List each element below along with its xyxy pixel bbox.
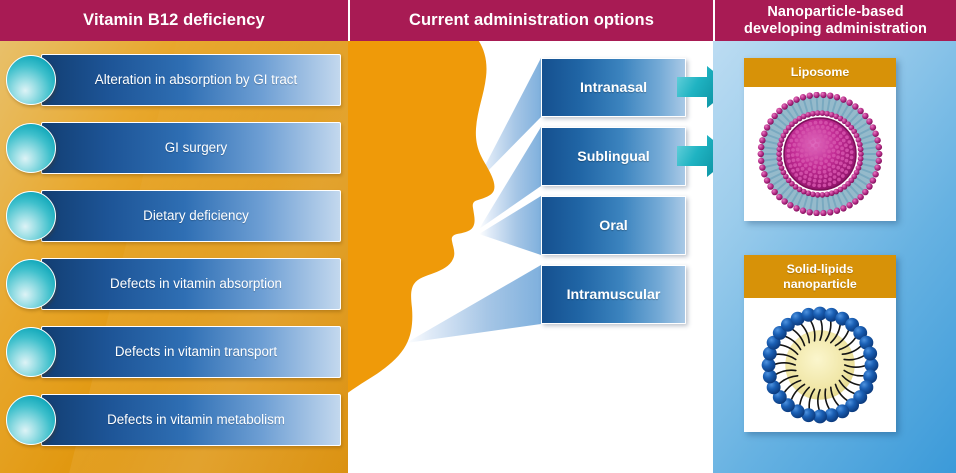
header-title-middle: Current administration options [350, 0, 713, 41]
factor-bar[interactable]: Defects in vitamin metabolism [41, 394, 341, 446]
header-title-right-line2: developing administration [744, 21, 927, 37]
nanoparticle-card-sln[interactable]: Solid-lipids nanoparticle [744, 255, 896, 432]
teal-sphere-icon [6, 55, 56, 105]
route-label: Intranasal [580, 80, 647, 96]
route-box-oral[interactable]: Oral [541, 196, 686, 255]
header-divider-right [713, 0, 715, 41]
route-box-intramuscular[interactable]: Intramuscular [541, 265, 686, 324]
factor-row[interactable]: Defects in vitamin absorption [6, 258, 342, 310]
factor-row[interactable]: GI surgery [6, 122, 342, 174]
nanoparticle-card-body [744, 298, 896, 432]
factor-bar[interactable]: GI surgery [41, 122, 341, 174]
factor-row[interactable]: Dietary deficiency [6, 190, 342, 242]
factor-label: Defects in vitamin transport [115, 344, 277, 360]
factor-label: GI surgery [165, 140, 228, 156]
vitamin-b12-infographic: Vitamin B12 deficiency Current administr… [0, 0, 956, 473]
route-box-intranasal[interactable]: Intranasal [541, 58, 686, 117]
header-title-left: Vitamin B12 deficiency [0, 0, 348, 41]
header-bar: Vitamin B12 deficiency Current administr… [0, 0, 956, 41]
factor-bar[interactable]: Defects in vitamin transport [41, 326, 341, 378]
nanoparticle-card-liposome[interactable]: Liposome [744, 58, 896, 221]
arrow-right-icon-intranasal [677, 66, 713, 108]
route-box-sublingual[interactable]: Sublingual [541, 127, 686, 186]
nanoparticle-card-title-line1: Solid-lipids [748, 262, 892, 277]
route-label: Intramuscular [567, 287, 661, 303]
header-divider-left [348, 0, 350, 41]
teal-sphere-icon [6, 395, 56, 445]
teal-sphere-icon [6, 259, 56, 309]
liposome-icon [751, 92, 889, 216]
factor-row[interactable]: Alteration in absorption by GI tract [6, 54, 342, 106]
teal-sphere-icon [6, 191, 56, 241]
route-label: Oral [599, 218, 627, 234]
administration-options-panel: Intranasal Sublingual Oral Intramuscular [348, 41, 713, 473]
factor-label: Dietary deficiency [143, 208, 249, 224]
deficiency-causes-panel: Alteration in absorption by GI tract GI … [0, 41, 348, 473]
teal-sphere-icon [6, 123, 56, 173]
nanoparticle-card-title: Liposome [744, 58, 896, 87]
human-head-profile-icon [348, 41, 556, 473]
factor-label: Alteration in absorption by GI tract [95, 72, 297, 88]
solid-lipid-nanoparticle-icon [751, 303, 889, 427]
factor-bar[interactable]: Defects in vitamin absorption [41, 258, 341, 310]
factor-row[interactable]: Defects in vitamin metabolism [6, 394, 342, 446]
factor-bar[interactable]: Dietary deficiency [41, 190, 341, 242]
nanoparticle-card-title: Solid-lipids nanoparticle [744, 255, 896, 298]
header-title-right: Nanoparticle-based developing administra… [715, 0, 956, 41]
teal-sphere-icon [6, 327, 56, 377]
header-title-right-line1: Nanoparticle-based [744, 4, 927, 20]
nanoparticle-panel: Liposome [713, 41, 956, 473]
route-label: Sublingual [577, 149, 650, 165]
factor-bar[interactable]: Alteration in absorption by GI tract [41, 54, 341, 106]
arrow-right-icon-sublingual [677, 135, 713, 177]
factor-label: Defects in vitamin absorption [110, 276, 282, 292]
nanoparticle-card-title-line2: nanoparticle [748, 277, 892, 292]
factor-label: Defects in vitamin metabolism [107, 412, 285, 428]
factor-row[interactable]: Defects in vitamin transport [6, 326, 342, 378]
nanoparticle-card-body [744, 87, 896, 221]
